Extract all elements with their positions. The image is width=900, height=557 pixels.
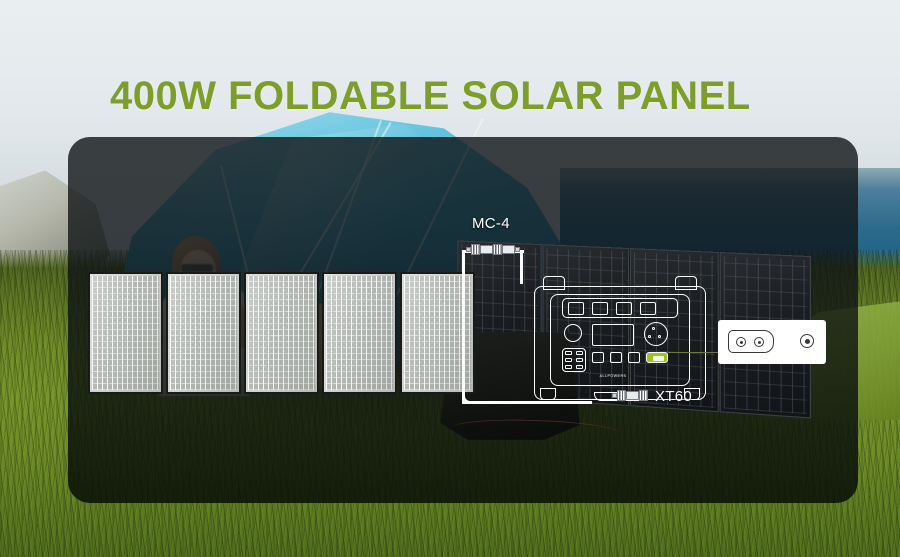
lcd-display (592, 324, 634, 346)
adapter-round-port (800, 334, 814, 348)
ac-outlet[interactable] (616, 302, 632, 315)
socket-pin-icon (658, 335, 661, 338)
cable-segment-vertical-left (462, 252, 465, 404)
panel-segment (322, 272, 397, 394)
connector-rings-icon (617, 390, 626, 401)
socket-pin-icon (754, 337, 764, 347)
rotary-dial[interactable] (564, 324, 582, 342)
page-title: 400W FOLDABLE SOLAR PANEL (110, 74, 751, 119)
mini-button[interactable] (576, 365, 583, 369)
connector-barrel-icon (626, 391, 639, 400)
usb-port[interactable] (592, 352, 604, 363)
mini-button[interactable] (576, 358, 583, 362)
socket-pin-icon (648, 335, 651, 338)
connector-rings-icon (639, 390, 648, 401)
usb-port[interactable] (610, 352, 622, 363)
mini-button[interactable] (565, 358, 572, 362)
panel-segment (244, 272, 319, 394)
ac-outlet[interactable] (592, 302, 608, 315)
panel-segment (88, 272, 163, 394)
mc4-connector-icon (466, 244, 520, 255)
usb-port[interactable] (628, 352, 640, 363)
portable-power-station: ALLPOWERS (534, 276, 706, 400)
adapter-socket (728, 330, 774, 353)
connector-rings-icon (471, 244, 480, 255)
ac-outlet[interactable] (640, 302, 656, 315)
connector-tip-icon (515, 247, 520, 252)
dc-input-port[interactable] (646, 352, 668, 363)
ac-outlet[interactable] (568, 302, 584, 315)
cable-segment-vertical-right (520, 252, 523, 284)
mini-button[interactable] (565, 365, 572, 369)
foldable-solar-panel (88, 272, 475, 394)
socket-pin-icon (736, 337, 746, 347)
round-ac-socket[interactable] (644, 322, 668, 346)
station-foot-left (540, 388, 556, 400)
callout-label-mc4: MC-4 (472, 215, 510, 232)
callout-leader-line (668, 352, 720, 353)
mini-button[interactable] (565, 351, 572, 355)
station-brand-logo: ALLPOWERS (590, 374, 636, 378)
ac-adapter-accessory (718, 320, 826, 364)
connector-barrel-icon (480, 245, 493, 254)
banner-stage: 400W FOLDABLE SOLAR PANEL (0, 0, 900, 557)
mini-button[interactable] (576, 351, 583, 355)
callout-label-xt60: XT60 (655, 388, 692, 405)
cable-segment-horizontal (462, 401, 592, 404)
panel-segment (166, 272, 241, 394)
connector-rings-icon (493, 244, 502, 255)
socket-pin-icon (652, 327, 655, 330)
xt60-connector-icon (612, 390, 648, 401)
connector-barrel-icon (502, 245, 515, 254)
